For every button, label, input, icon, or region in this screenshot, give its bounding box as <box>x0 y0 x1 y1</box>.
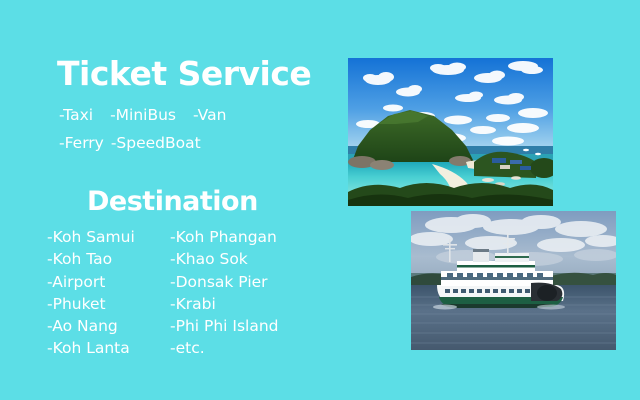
service-item-taxi: -Taxi <box>59 108 93 124</box>
service-list-row-1: -Taxi -MiniBus -Van <box>59 108 226 124</box>
destination-column-right: -Koh Phangan -Khao Sok -Donsak Pier -Kra… <box>170 226 279 360</box>
destination-item: -etc. <box>170 337 279 359</box>
ferry-boat-photo <box>411 211 616 350</box>
slide-canvas: Ticket Service -Taxi -MiniBus -Van -Ferr… <box>0 0 640 400</box>
ferry-boat-illustration <box>411 211 616 350</box>
destination-item: -Koh Tao <box>47 248 135 270</box>
destination-title: Destination <box>87 188 258 215</box>
destination-item: -Khao Sok <box>170 248 279 270</box>
destination-item: -Krabi <box>170 293 279 315</box>
island-beach-illustration <box>348 58 553 206</box>
service-item-ferry: -Ferry <box>59 136 104 152</box>
destination-item: -Airport <box>47 271 135 293</box>
destination-item: -Ao Nang <box>47 315 135 337</box>
ticket-service-title: Ticket Service <box>57 57 311 90</box>
destination-item: -Koh Phangan <box>170 226 279 248</box>
service-list-row-2: -Ferry -SpeedBoat <box>59 136 201 152</box>
destination-item: -Phuket <box>47 293 135 315</box>
destination-item: -Phi Phi Island <box>170 315 279 337</box>
destination-item: -Koh Samui <box>47 226 135 248</box>
service-item-minibus: -MiniBus <box>110 108 176 124</box>
destination-item: -Koh Lanta <box>47 337 135 359</box>
island-beach-photo <box>348 58 553 206</box>
destination-column-left: -Koh Samui -Koh Tao -Airport -Phuket -Ao… <box>47 226 135 360</box>
destination-item: -Donsak Pier <box>170 271 279 293</box>
service-item-speedboat: -SpeedBoat <box>111 136 201 152</box>
service-item-van: -Van <box>193 108 226 124</box>
